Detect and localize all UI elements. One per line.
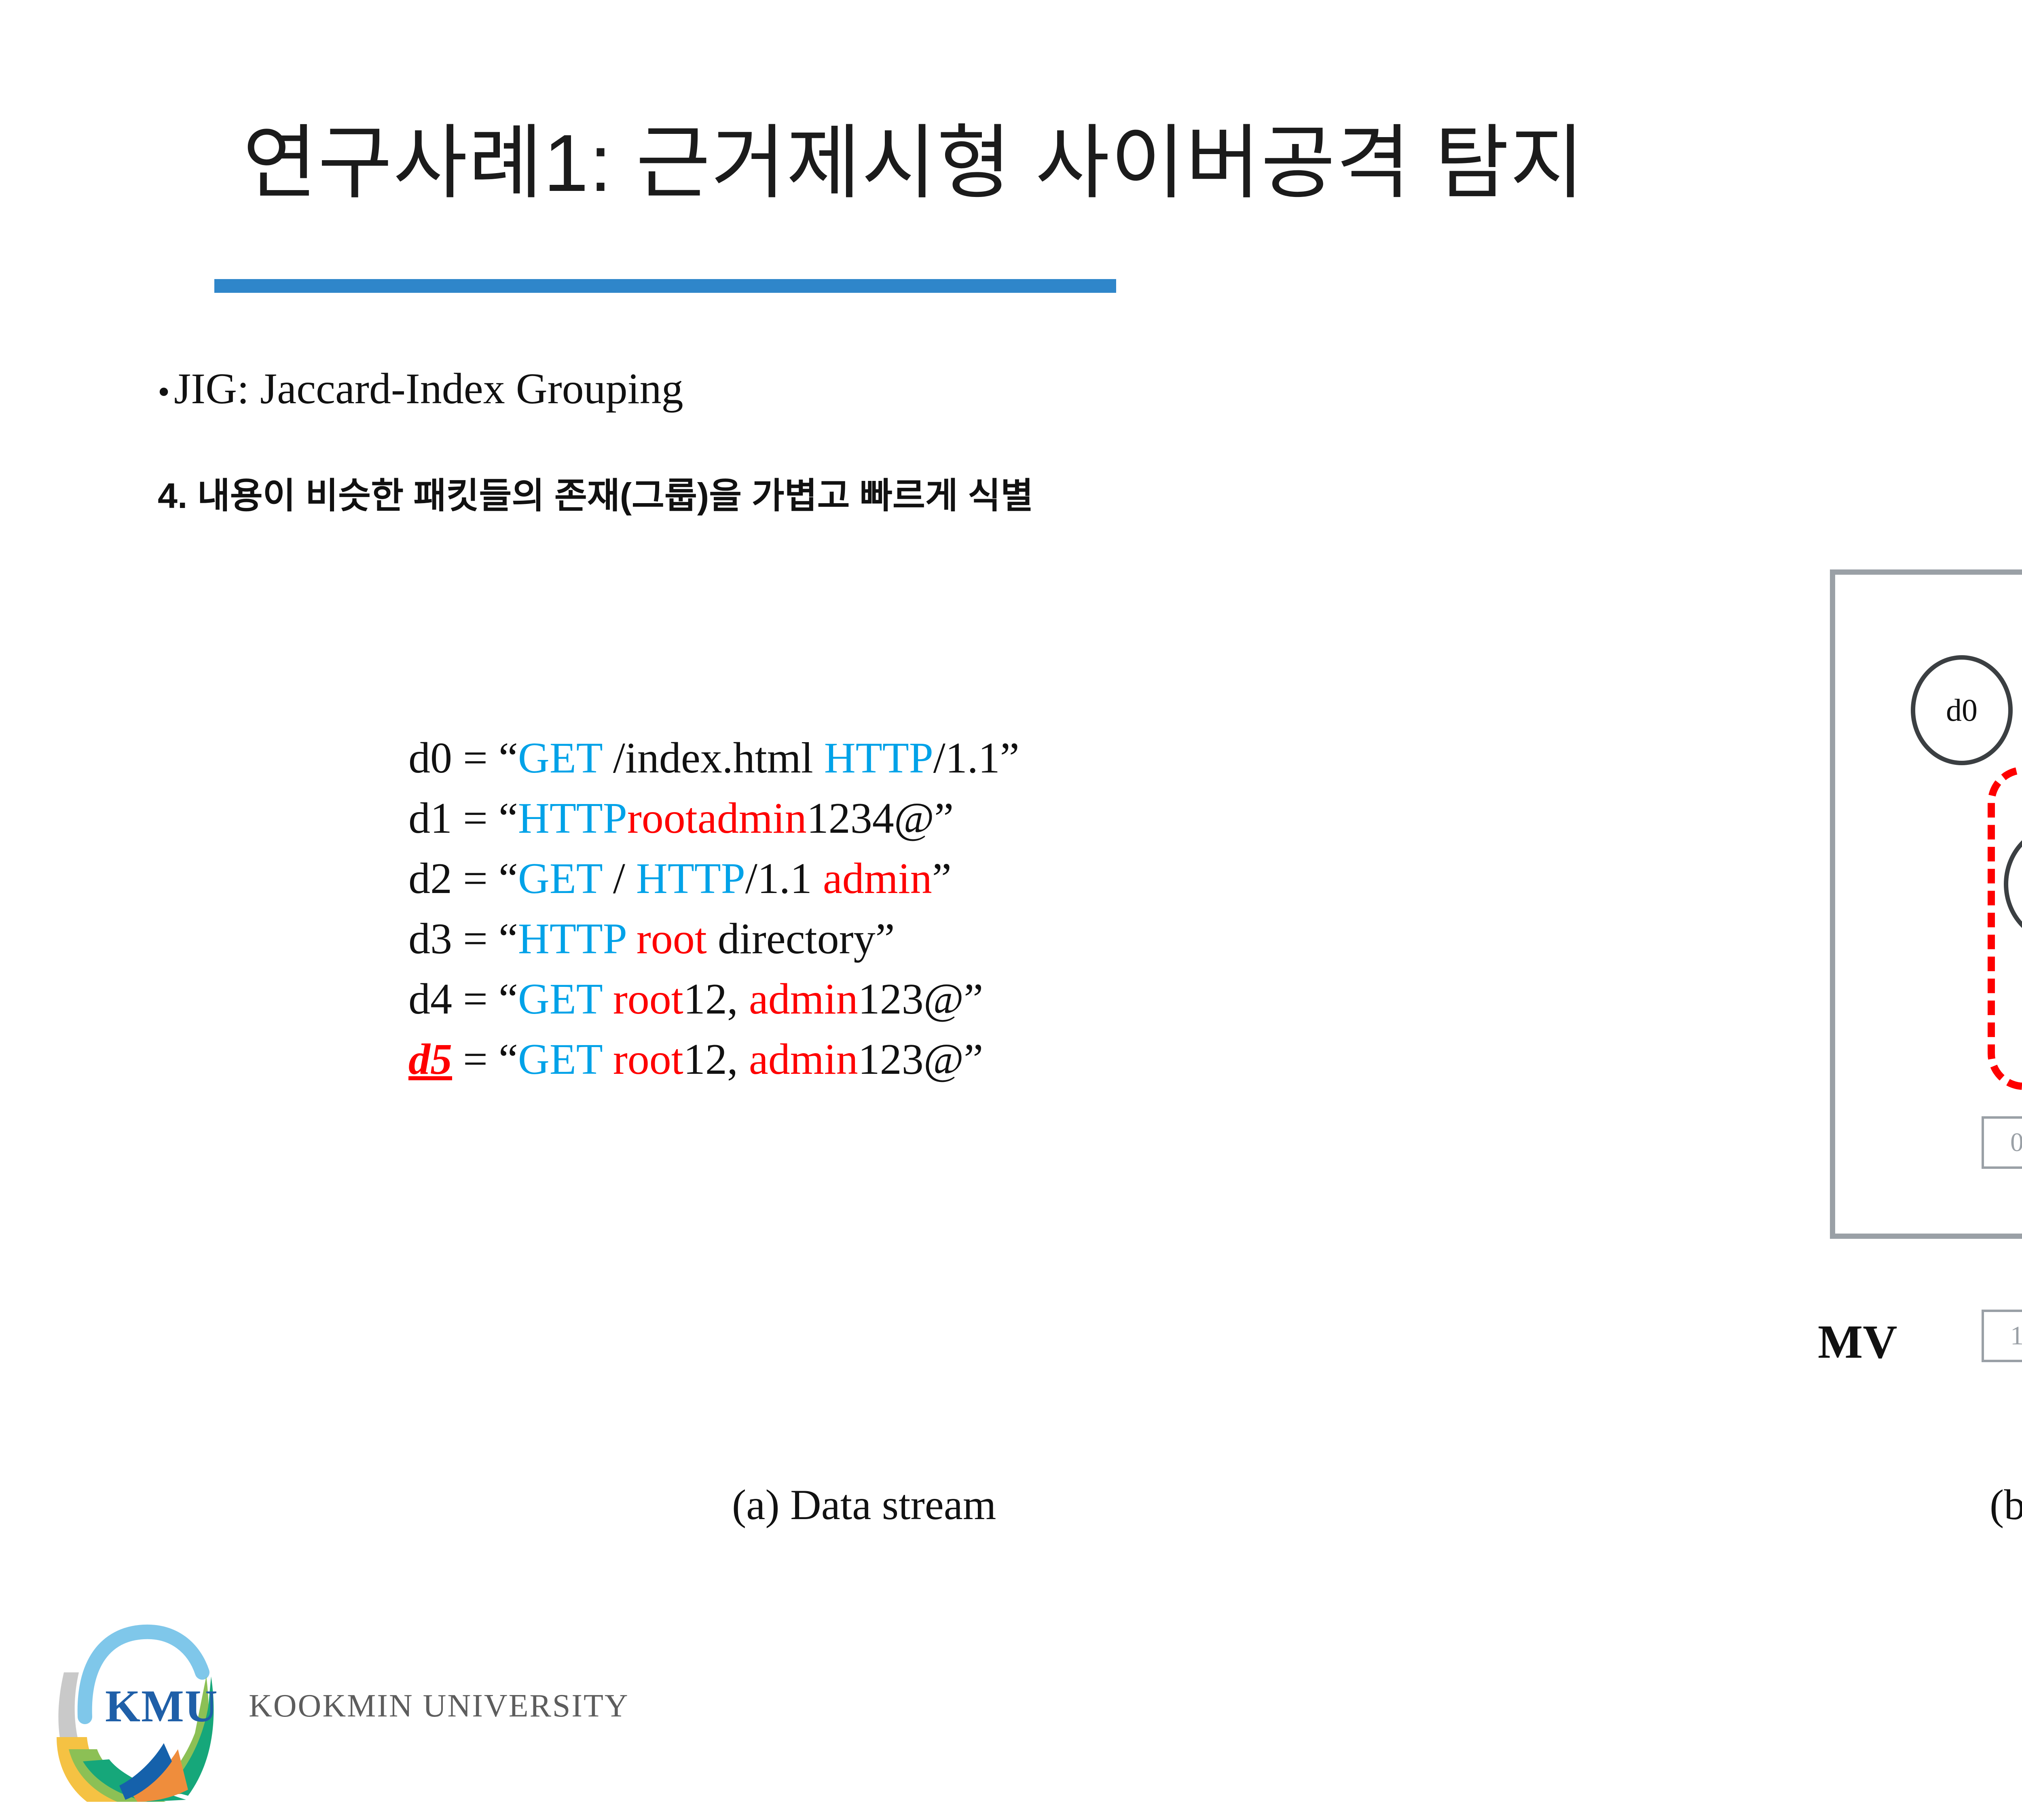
d4-get-keyword: GET (518, 975, 602, 1023)
d2-get-keyword: GET (518, 855, 602, 903)
algorithm-note: Mean + 6 * Sigma = 3.1 (Iterative Outlie… (1937, 1581, 2022, 1656)
d3-suffix: directory” (707, 915, 895, 963)
bullet-dot-icon: • (158, 374, 170, 409)
d5-mid: 12, (683, 1035, 749, 1084)
d5-identifier: d5 (408, 1035, 452, 1084)
d5-space (602, 1035, 613, 1084)
d5-suffix: 123@” (858, 1035, 983, 1084)
d4-space (602, 975, 613, 1023)
d0-get-keyword: GET (518, 734, 602, 782)
d0-prefix: d0 = “ (408, 734, 518, 782)
d1-rootadmin-keyword: rootadmin (627, 794, 807, 842)
stream-line-d2: d2 = “GET / HTTP/1.1 admin” (408, 849, 1019, 909)
node-d0-label: d0 (1946, 694, 1978, 726)
stream-line-d0: d0 = “GET /index.html HTTP/1.1” (408, 728, 1019, 788)
sub-bullet-label: 4. 내용이 비슷한 패킷들의 존재(그룹)을 가볍고 빠르게 식별 (158, 467, 1033, 518)
bit-cell: 0 (1984, 1119, 2022, 1166)
d1-http-keyword: HTTP (518, 794, 627, 842)
d1-suffix: 1234@” (807, 794, 954, 842)
d3-http-keyword: HTTP (518, 915, 626, 963)
stream-line-d1: d1 = “HTTProotadmin1234@” (408, 788, 1019, 849)
stream-line-d3: d3 = “HTTP root directory” (408, 909, 1019, 969)
note-line-2: (Iterative Outlier Removal Algorithm) (1937, 1624, 2022, 1656)
mv-counter-array: 1 5 0 5 2 2 2 1 (1982, 1310, 2022, 1362)
d2-version: /1.1 (745, 855, 823, 903)
d0-suffix: /1.1” (933, 734, 1019, 782)
main-bullet: • JIG: Jaccard-Index Grouping (158, 364, 683, 414)
mv-array-label: MV (1818, 1314, 1897, 1369)
caption-data-stream: (a) Data stream (732, 1480, 996, 1530)
d5-prefix: = “ (452, 1035, 518, 1084)
d5-admin-keyword: admin (749, 1035, 858, 1084)
big-group-boundary (1988, 766, 2022, 1090)
d4-suffix: 123@” (858, 975, 983, 1023)
d0-http-keyword: HTTP (824, 734, 933, 782)
d2-slash: / (602, 855, 636, 903)
stream-line-d5: d5 = “GET root12, admin123@” (408, 1029, 1019, 1090)
d4-mid: 12, (683, 975, 749, 1023)
d4-root-keyword: root (613, 975, 683, 1023)
d5-root-keyword: root (613, 1035, 683, 1084)
note-line-1: Mean + 6 * Sigma = 3.1 (1937, 1581, 2022, 1615)
d0-path: /index.html (602, 734, 824, 782)
d2-suffix: ” (932, 855, 952, 903)
data-stream-list: d0 = “GET /index.html HTTP/1.1” d1 = “HT… (408, 728, 1019, 1090)
d4-admin-keyword: admin (749, 975, 858, 1023)
d1-prefix: d1 = “ (408, 794, 518, 842)
bit-array: 0 1 0 1 0 1 0 0 (1982, 1116, 2022, 1169)
logo-university-name: KOOKMIN UNIVERSITY (249, 1688, 629, 1725)
title-underline-rule (214, 279, 1116, 293)
d3-prefix: d3 = “ (408, 915, 518, 963)
d5-get-keyword: GET (518, 1035, 602, 1084)
logo-abbreviation: KMU (105, 1680, 218, 1733)
caption-counter-array: (b) Counter array (1990, 1480, 2022, 1530)
slide-canvas: 연구사례1: 근거제시형 사이버공격 탐지 23 • JIG: Jaccard-… (0, 0, 2022, 1820)
main-bullet-label: JIG: Jaccard-Index Grouping (174, 364, 683, 414)
d3-root-keyword: root (637, 915, 707, 963)
d3-space (626, 915, 637, 963)
stream-line-d4: d4 = “GET root12, admin123@” (408, 969, 1019, 1029)
d2-http-keyword: HTTP (636, 855, 745, 903)
d2-admin-keyword: admin (823, 855, 932, 903)
node-d0: d0 (1911, 655, 2013, 765)
d2-prefix: d2 = “ (408, 855, 518, 903)
university-logo: KMU KOOKMIN UNIVERSITY (44, 1616, 651, 1802)
mv-cell: 1 (1984, 1312, 2022, 1360)
d4-prefix: d4 = “ (408, 975, 518, 1023)
page-title: 연구사례1: 근거제시형 사이버공격 탐지 (243, 97, 1585, 214)
